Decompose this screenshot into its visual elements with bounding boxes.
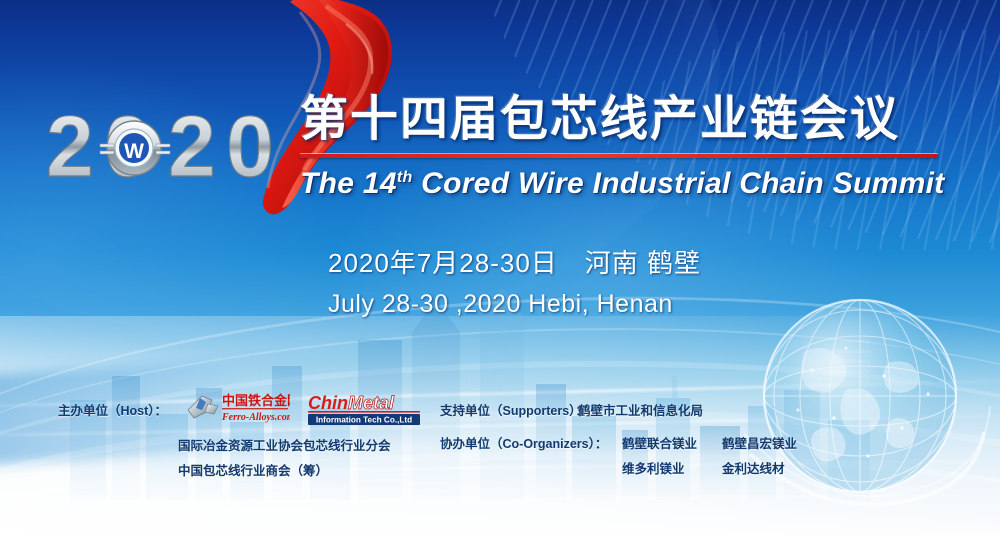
- date-venue-block: 2020年7月28-30日 河南 鹤壁 July 28-30 ,2020 Heb…: [328, 243, 701, 319]
- host-organization-2: 国际冶金资源工业协会包芯线行业分会: [178, 435, 391, 454]
- svg-text:2: 2: [168, 104, 216, 186]
- title-en-ordinal-suffix: th: [397, 169, 413, 186]
- ferro-alloys-mark: [188, 396, 218, 418]
- chinmetal-tagline: Information Tech Co.,Ltd: [316, 416, 412, 425]
- co-organizers-label: 协办单位（Co-Organizers）：: [440, 433, 607, 452]
- co-organizer-item: 金利达线材: [722, 458, 785, 477]
- title-divider-rule: [300, 154, 938, 158]
- svg-text:0: 0: [226, 104, 274, 186]
- conference-title-en: The 14th Cored Wire Industrial Chain Sum…: [300, 167, 940, 201]
- host-label: 主办单位（Host）：: [58, 400, 167, 419]
- title-block: 第十四届包芯线产业链会议 The 14th Cored Wire Industr…: [300, 92, 940, 201]
- logo-2020: 2 0 2 0 W: [46, 104, 301, 186]
- date-venue-cn: 2020年7月28-30日 河南 鹤壁: [328, 243, 701, 280]
- host-organization-3: 中国包芯线行业商会（筹）: [178, 460, 328, 479]
- co-organizer-item: 鹤壁昌宏镁业: [722, 433, 797, 452]
- supporter-organization: 鹤壁市工业和信息化局: [578, 400, 703, 419]
- ferro-alloys-en-text: Ferro-Alloys.com: [221, 412, 290, 423]
- conference-banner: 2 0 2 0 W 第十四届包芯线产业链会议 The 14th Cored Wi…: [0, 0, 1000, 536]
- title-en-rest: Cored Wire Industrial Chain Summit: [413, 167, 945, 200]
- conference-title-cn: 第十四届包芯线产业链会议: [300, 92, 940, 149]
- svg-text:W: W: [124, 140, 144, 163]
- ferro-alloys-logo[interactable]: 中国铁合金网 Ferro-Alloys.com: [186, 390, 290, 426]
- ferro-alloys-cn-text: 中国铁合金网: [222, 393, 290, 408]
- chinmetal-logo[interactable]: ChinMetal Information Tech Co.,Ltd: [306, 390, 422, 426]
- chinmetal-wordmark: ChinMetal: [308, 393, 395, 413]
- co-organizer-item: 维多利镁业: [622, 458, 685, 477]
- supporters-label: 支持单位（Supporters）：: [440, 400, 588, 419]
- co-organizer-item: 鹤壁联合镁业: [622, 433, 697, 452]
- svg-text:2: 2: [46, 104, 94, 186]
- date-venue-en: July 28-30 ,2020 Hebi, Henan: [328, 290, 701, 319]
- title-en-prefix: The 14: [300, 167, 397, 200]
- sponsor-block: 主办单位（Host）： 中国铁合金网 Ferro-Al: [0, 388, 1000, 498]
